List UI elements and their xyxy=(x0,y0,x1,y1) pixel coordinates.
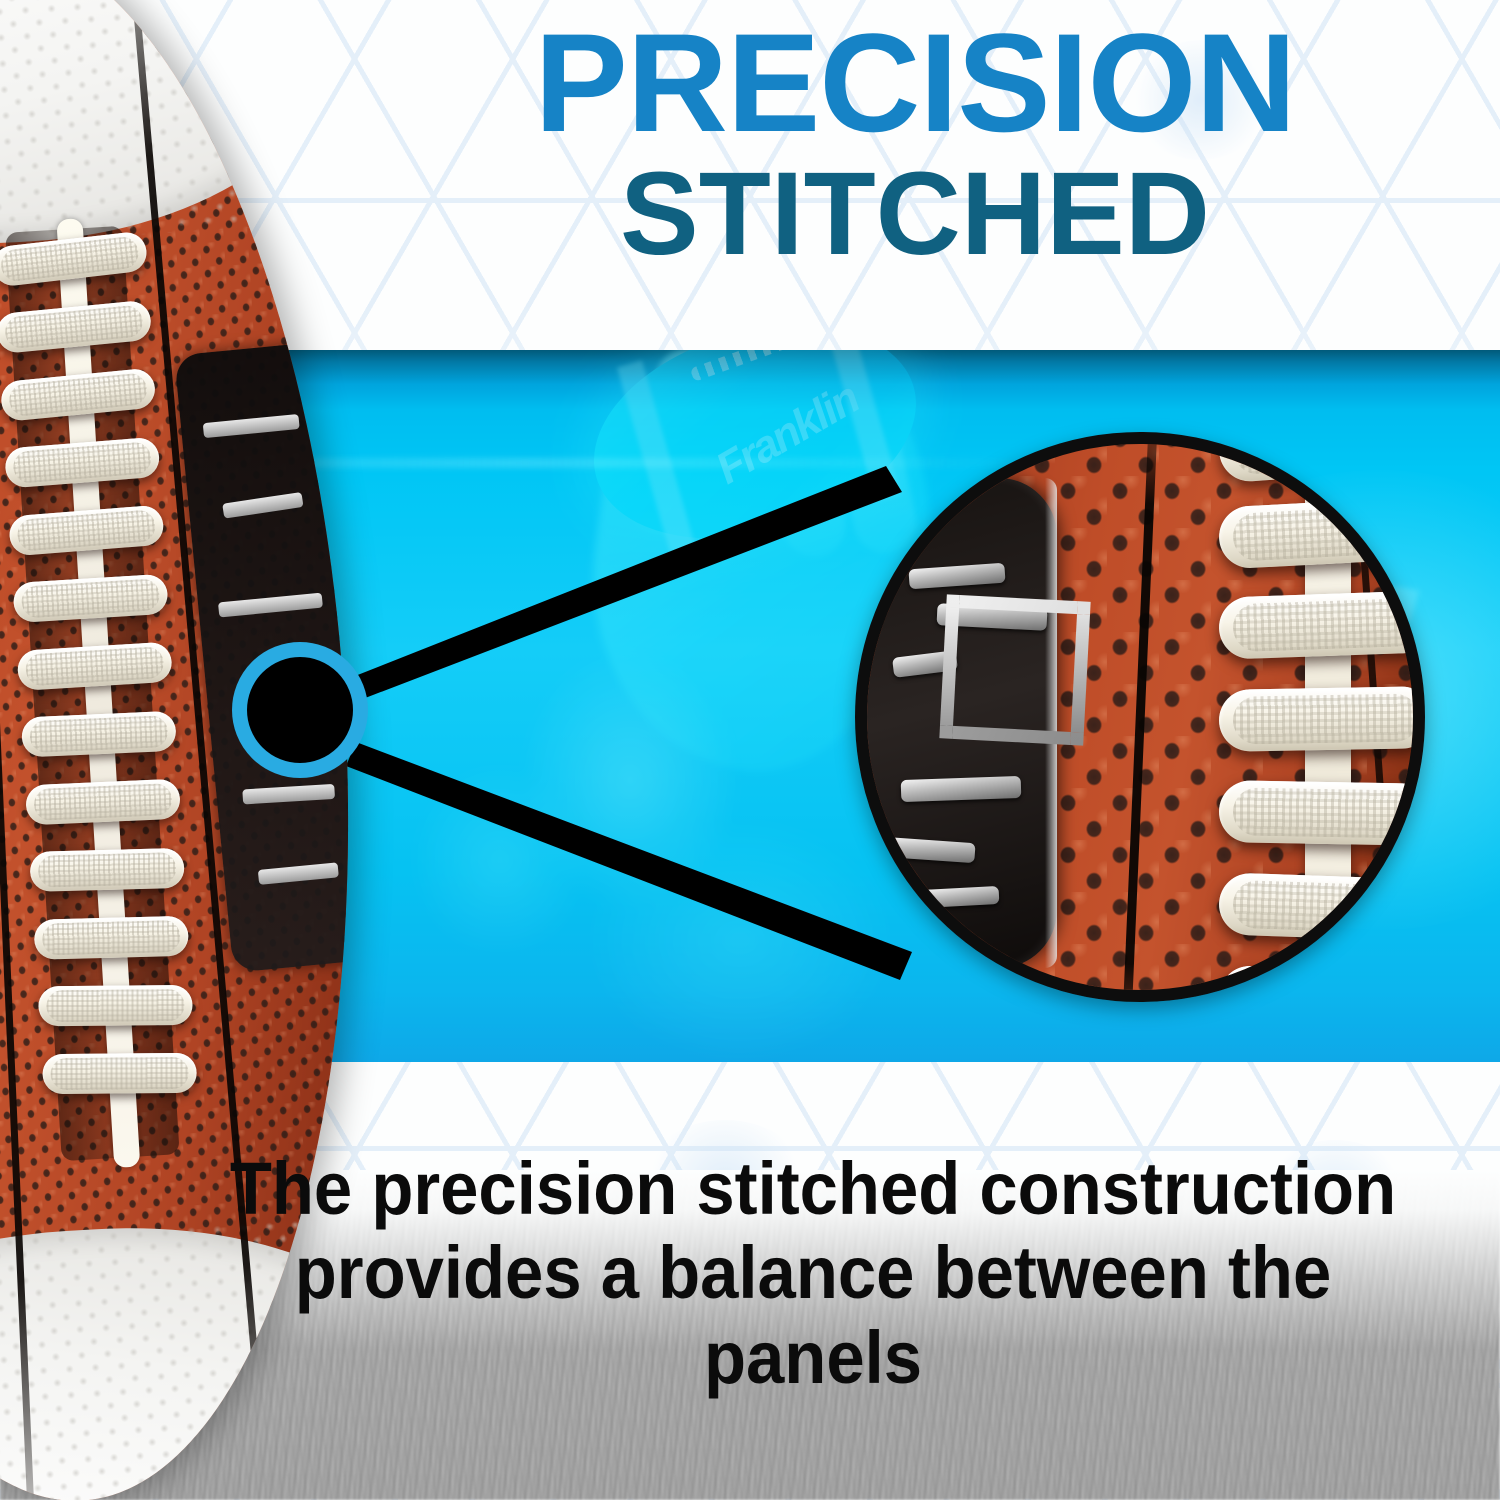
magnified-laces xyxy=(1219,432,1425,1002)
magnifier-circle-icon xyxy=(855,432,1425,1002)
magnified-logo-outline xyxy=(939,594,1090,745)
football-lace xyxy=(30,848,185,892)
magnified-logo-mark xyxy=(901,776,1022,802)
header-block: PRECISION STITCHED xyxy=(330,14,1500,273)
football-lace xyxy=(21,711,177,758)
ghost-brand-label: Franklin xyxy=(708,374,867,495)
football-logo-mark xyxy=(222,492,303,519)
football-lace xyxy=(34,916,189,960)
magnified-lace xyxy=(1218,686,1425,752)
football-logo-mark xyxy=(203,414,300,438)
magnified-brand-logo xyxy=(855,478,1057,968)
football-lace xyxy=(38,985,192,1026)
caption-line-1: The precision stitched construction xyxy=(187,1147,1439,1231)
feature-caption: The precision stitched construction prov… xyxy=(187,1147,1439,1400)
football-panel-texture xyxy=(0,0,355,264)
magnified-lace xyxy=(1218,872,1425,941)
magnified-lace xyxy=(1218,496,1425,569)
football-logo-mark xyxy=(242,784,335,805)
product-feature-card: Franklin xyxy=(0,0,1500,1500)
football-white-panel-top xyxy=(0,0,355,264)
magnified-logo-mark xyxy=(882,837,975,863)
page-title: PRECISION xyxy=(330,14,1500,151)
ghost-player-silhouette xyxy=(410,610,930,1062)
magnified-lace xyxy=(1218,780,1425,846)
page-subtitle: STITCHED xyxy=(330,151,1500,273)
football-lace xyxy=(25,779,181,826)
magnified-logo-mark xyxy=(908,563,1005,590)
magnified-lace xyxy=(1218,590,1425,659)
magnified-logo-mark xyxy=(921,886,1000,908)
callout-target-dot-icon xyxy=(232,642,368,778)
football-logo-mark xyxy=(218,593,323,618)
football-lace xyxy=(42,1053,196,1094)
caption-line-2: provides a balance between the panels xyxy=(187,1231,1439,1400)
ghost-football-laces xyxy=(690,350,836,382)
football-logo-mark xyxy=(258,862,339,885)
